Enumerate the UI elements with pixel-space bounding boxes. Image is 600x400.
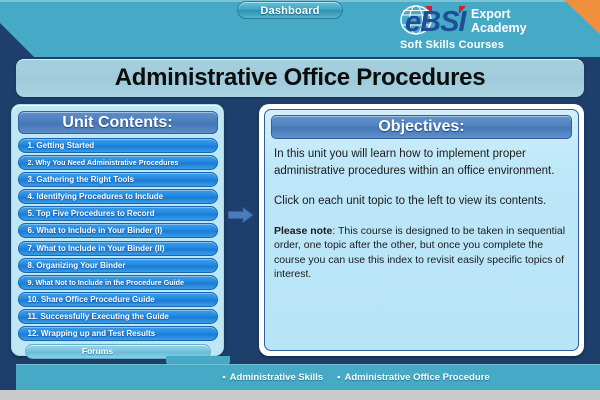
footer-strip bbox=[0, 390, 600, 400]
breadcrumb-label: Administrative Skills bbox=[230, 372, 323, 383]
logo-tagline: Soft Skills Courses bbox=[400, 39, 504, 51]
objectives-panel: Objectives: In this unit you will learn … bbox=[259, 104, 584, 356]
unit-contents-list: 1. Getting Started2. Why You Need Admini… bbox=[17, 138, 218, 341]
objectives-paragraph-2: Click on each unit topic to the left to … bbox=[274, 193, 569, 210]
objectives-note: Please note: This course is designed to … bbox=[274, 224, 569, 282]
logo-line-academy: Academy bbox=[471, 21, 527, 35]
header-corner-navy-decoration bbox=[0, 23, 34, 57]
logo-line-export: Export bbox=[471, 7, 527, 21]
breadcrumb-item[interactable]: •Administrative Skills bbox=[222, 372, 323, 383]
unit-item[interactable]: 1. Getting Started bbox=[18, 138, 218, 153]
unit-item[interactable]: 9. What Not to Include in the Procedure … bbox=[18, 275, 218, 290]
unit-item[interactable]: 5. Top Five Procedures to Record bbox=[18, 206, 218, 221]
unit-contents-heading: Unit Contents: bbox=[18, 111, 218, 134]
header-corner-orange-decoration bbox=[564, 0, 600, 34]
unit-item[interactable]: 2. Why You Need Administrative Procedure… bbox=[18, 155, 218, 170]
unit-item[interactable]: 6. What to Include in Your Binder (I) bbox=[18, 223, 218, 238]
page-header: Dashboard eBSI Export Academy Soft Skill… bbox=[0, 0, 600, 57]
flag-right-icon bbox=[459, 6, 466, 14]
page-footer: •Administrative Skills•Administrative Of… bbox=[16, 364, 600, 390]
unit-item[interactable]: 12. Wrapping up and Test Results bbox=[18, 326, 218, 341]
unit-item[interactable]: 10. Share Office Procedure Guide bbox=[18, 292, 218, 307]
title-banner: Administrative Office Procedures bbox=[16, 59, 584, 97]
logo-lines: Export Academy bbox=[471, 7, 527, 35]
next-arrow-button[interactable] bbox=[228, 207, 254, 223]
breadcrumb-label: Administrative Office Procedure bbox=[344, 372, 489, 383]
objectives-note-label: Please note bbox=[274, 225, 332, 237]
bullet-icon: • bbox=[337, 372, 340, 383]
objectives-body: In this unit you will learn how to imple… bbox=[271, 146, 572, 282]
breadcrumb-item[interactable]: •Administrative Office Procedure bbox=[337, 372, 490, 383]
arrow-right-icon bbox=[228, 207, 254, 223]
page-title: Administrative Office Procedures bbox=[115, 64, 486, 92]
logo-wordmark: eBSI bbox=[405, 8, 465, 37]
objectives-heading: Objectives: bbox=[271, 115, 572, 139]
unit-contents-panel: Unit Contents: 1. Getting Started2. Why … bbox=[11, 104, 224, 356]
unit-item[interactable]: 3. Gathering the Right Tools bbox=[18, 172, 218, 187]
course-page: Dashboard eBSI Export Academy Soft Skill… bbox=[0, 0, 600, 400]
dashboard-button[interactable]: Dashboard bbox=[237, 1, 343, 19]
breadcrumb: •Administrative Skills•Administrative Of… bbox=[16, 364, 600, 390]
unit-item[interactable]: 4. Identifying Procedures to Include bbox=[18, 189, 218, 204]
ebsi-logo[interactable]: eBSI Export Academy Soft Skills Courses bbox=[399, 4, 539, 54]
bullet-icon: • bbox=[222, 372, 225, 383]
unit-item[interactable]: 8. Organizing Your Binder bbox=[18, 258, 218, 273]
objectives-inner: Objectives: In this unit you will learn … bbox=[264, 109, 579, 351]
objectives-paragraph-1: In this unit you will learn how to imple… bbox=[274, 146, 569, 179]
unit-item[interactable]: 11. Successfully Executing the Guide bbox=[18, 309, 218, 324]
unit-item[interactable]: 7. What to Include in Your Binder (II) bbox=[18, 241, 218, 256]
